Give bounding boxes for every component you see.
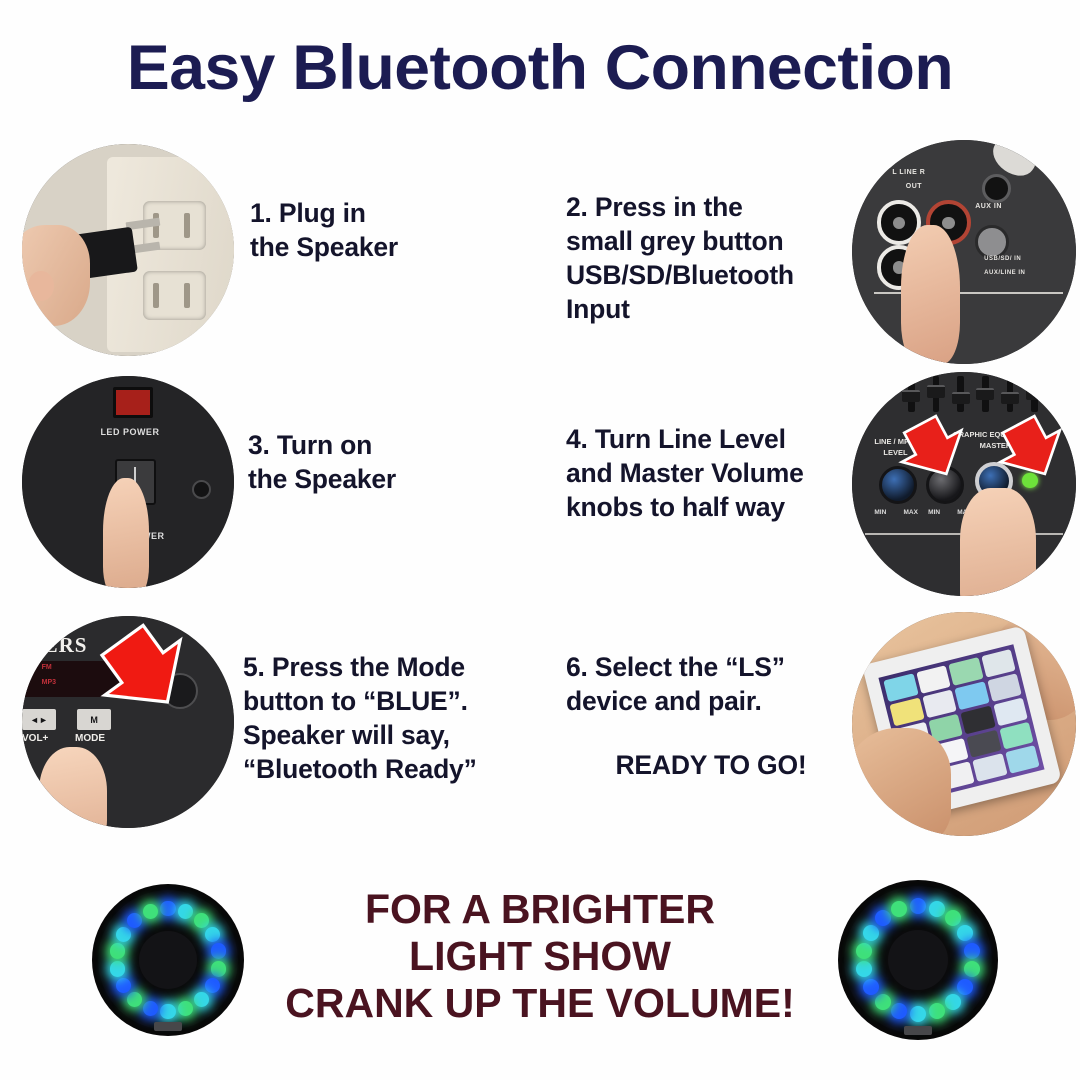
led-segment	[875, 994, 891, 1010]
banner-line-1: FOR A BRIGHTER	[240, 886, 840, 933]
screw	[192, 480, 211, 499]
step-2-line-4: Input	[566, 292, 856, 326]
led-segment	[110, 961, 125, 976]
banner-line-2: LIGHT SHOW	[240, 933, 840, 980]
led-segment	[929, 901, 945, 917]
step-1-line-2: the Speaker	[250, 230, 550, 264]
led-segment	[863, 925, 879, 941]
led-segment	[964, 943, 980, 959]
bottom-banner: FOR A BRIGHTER LIGHT SHOW CRANK UP THE V…	[240, 886, 840, 1027]
power-switch-photo: LED POWER POWER	[22, 376, 234, 588]
led-ring-speaker-right	[838, 880, 998, 1040]
hand-bottom	[852, 728, 951, 836]
step-6-ready-line: READY TO GO!	[566, 748, 856, 782]
step-2-line-2: small grey button	[566, 224, 856, 258]
step-3-line-2: the Speaker	[248, 462, 538, 496]
step-4-line-3: knobs to half way	[566, 490, 866, 524]
led-segment	[194, 913, 209, 928]
step-2-line-1: 2. Press in the	[566, 190, 856, 224]
led-segment	[945, 994, 961, 1010]
led-segment	[863, 979, 879, 995]
plug-outlet-photo	[22, 144, 234, 356]
step-row-2: LED POWER POWER 3. Turn on the Speaker 4…	[0, 372, 1080, 604]
finger	[901, 225, 959, 364]
step-5-line-2: button to “BLUE”.	[243, 684, 563, 718]
infographic-page: Easy Bluetooth Connection 1. Plug in the…	[0, 0, 1080, 1080]
back-panel-photo: L LINE R OUT AUX IN USB/SD/ IN AUX/LINE …	[852, 140, 1076, 364]
panel-label-line: L LINE R	[892, 169, 925, 176]
step-2-text: 2. Press in the small grey button USB/SD…	[566, 190, 856, 326]
step-6-line-2: device and pair.	[566, 684, 856, 718]
led-segment	[910, 898, 926, 914]
step-2-line-3: USB/SD/Bluetooth	[566, 258, 856, 292]
step-5-line-3: Speaker will say,	[243, 718, 563, 752]
step-6-line-1: 6. Select the “LS”	[566, 650, 856, 684]
step-4-line-1: 4. Turn Line Level	[566, 422, 866, 456]
panel-label-aux-line: AUX/LINE IN	[984, 270, 1025, 276]
panel-label-out: OUT	[906, 183, 922, 190]
led-segment	[856, 943, 872, 959]
panel-label-aux-in: AUX IN	[975, 203, 1002, 210]
led-segment	[143, 1001, 158, 1016]
step-6-text: 6. Select the “LS” device and pair. READ…	[566, 650, 856, 782]
red-arrows	[852, 372, 1076, 596]
led-segment	[205, 927, 220, 942]
banner-line-3: CRANK UP THE VOLUME!	[240, 980, 840, 1027]
mode-button-photo: KERS FM MP3 ◄► M VOL+ MODE	[22, 616, 234, 828]
grey-input-button[interactable]	[975, 225, 1009, 259]
led-segment	[110, 943, 125, 958]
led-segment	[160, 1004, 175, 1019]
panel-label-led-power: LED POWER	[100, 427, 159, 437]
led-ring-speaker-left	[92, 884, 244, 1036]
led-segment	[116, 927, 131, 942]
led-power-indicator	[113, 387, 153, 419]
led-segment	[211, 943, 226, 958]
step-1-line-1: 1. Plug in	[250, 196, 550, 230]
panel-label-usb-sd: USB/SD/ IN	[984, 256, 1021, 262]
smartphone-photo	[852, 612, 1076, 836]
step-5-text: 5. Press the Mode button to “BLUE”. Spea…	[243, 650, 563, 786]
step-row-3: KERS FM MP3 ◄► M VOL+ MODE 5. Press the …	[0, 612, 1080, 844]
step-4-line-2: and Master Volume	[566, 456, 866, 490]
step-3-text: 3. Turn on the Speaker	[248, 428, 538, 496]
step-3-line-1: 3. Turn on	[248, 428, 538, 462]
step-4-text: 4. Turn Line Level and Master Volume kno…	[566, 422, 866, 524]
page-title: Easy Bluetooth Connection	[0, 34, 1080, 102]
led-segment	[160, 901, 175, 916]
step-row-1: 1. Plug in the Speaker 2. Press in the s…	[0, 140, 1080, 370]
led-segment	[211, 961, 226, 976]
red-arrow	[22, 616, 234, 828]
led-segment	[143, 904, 158, 919]
mixer-knobs-photo: GRAPHIC EQUALIZER LINE / MP3 LEVEL ECHO …	[852, 372, 1076, 596]
aux-in-jack	[982, 174, 1011, 203]
led-segment	[964, 961, 980, 977]
led-segment	[957, 925, 973, 941]
led-segment	[194, 992, 209, 1007]
step-5-line-4: “Bluetooth Ready”	[243, 752, 563, 786]
led-segment	[929, 1003, 945, 1019]
step-5-line-1: 5. Press the Mode	[243, 650, 563, 684]
step-1-text: 1. Plug in the Speaker	[250, 196, 550, 264]
finger	[103, 478, 150, 588]
